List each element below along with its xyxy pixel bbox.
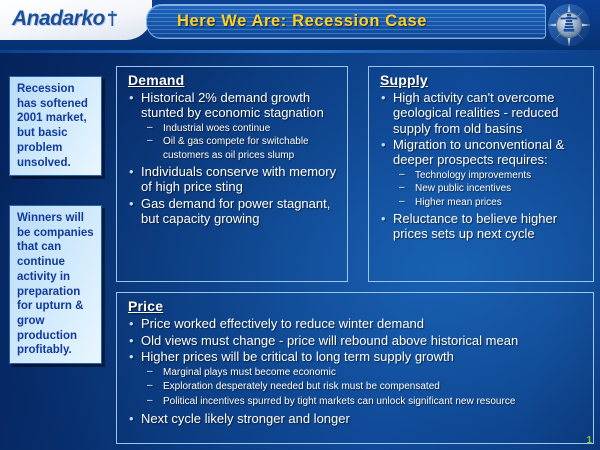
sub-bullet-glyph: – — [147, 134, 153, 148]
derrick-icon — [108, 11, 117, 26]
sub-bullet-text: Exploration desperately needed but risk … — [163, 381, 440, 392]
sub-bullet-glyph: – — [147, 379, 153, 394]
panel-demand-bullets: • Historical 2% demand growth stunted by… — [126, 90, 340, 226]
sub-bullet-item: – Technology improvements — [393, 169, 586, 183]
bullet-glyph: • — [129, 316, 134, 332]
sub-bullet-glyph: – — [399, 195, 405, 209]
bullet-glyph: • — [381, 137, 386, 152]
sub-bullet-text: Industrial woes continue — [163, 123, 270, 134]
panel-demand-title: Demand — [128, 72, 340, 88]
slide-canvas: Anadarko Here We Are: Recession Case — [0, 0, 600, 450]
bullet-text: Next cycle likely stronger and longer — [141, 411, 350, 426]
sub-bullet-text: New public incentives — [415, 183, 511, 194]
bullet-text: Reluctance to believe higher prices sets… — [393, 211, 557, 241]
header-divider — [0, 50, 600, 53]
sub-bullet-text: Oil & gas compete for switchable custome… — [163, 136, 309, 161]
bullet-text: Gas demand for power stagnant, but capac… — [141, 196, 330, 226]
sub-bullet-text: Marginal plays must become economic — [163, 367, 336, 378]
bullet-glyph: • — [129, 349, 134, 365]
sub-bullet-glyph: – — [147, 394, 153, 409]
panel-supply: Supply • High activity can't overcome ge… — [368, 66, 594, 282]
callout-winners: Winners will be companies that can conti… — [9, 205, 102, 364]
bullet-item: • High activity can't overcome geologica… — [378, 90, 586, 136]
panel-price: Price • Price worked effectively to redu… — [116, 292, 594, 444]
bullet-text: Migration to unconventional & deeper pro… — [393, 137, 564, 167]
bullet-item: • Historical 2% demand growth stunted by… — [126, 90, 340, 162]
panel-price-title: Price — [128, 298, 586, 314]
sub-bullet-item: – Higher mean prices — [393, 196, 586, 210]
bullet-item: • Price worked effectively to reduce win… — [126, 316, 586, 332]
bullet-text: Historical 2% demand growth stunted by e… — [141, 90, 324, 120]
slide-number: 1 — [586, 435, 592, 446]
bullet-glyph: • — [381, 211, 386, 226]
bullet-text: Higher prices will be critical to long t… — [141, 349, 454, 364]
bullet-glyph: • — [129, 90, 134, 105]
sub-bullet-item: – Oil & gas compete for switchable custo… — [141, 135, 340, 162]
panel-supply-title: Supply — [380, 72, 586, 88]
logo-wordmark: Anadarko — [12, 8, 105, 29]
bullet-item: • Migration to unconventional & deeper p… — [378, 137, 586, 209]
panel-price-bullets: • Price worked effectively to reduce win… — [126, 316, 586, 427]
bullet-text: Price worked effectively to reduce winte… — [141, 316, 424, 331]
panel-supply-bullets: • High activity can't overcome geologica… — [378, 90, 586, 242]
sub-bullet-glyph: – — [147, 365, 153, 380]
bullet-item: • Next cycle likely stronger and longer — [126, 411, 586, 427]
bullet-glyph: • — [129, 411, 134, 427]
bullet-item: • Gas demand for power stagnant, but cap… — [126, 196, 340, 227]
compass-rose-emblem — [546, 2, 592, 48]
sub-bullets: – Marginal plays must become economic – … — [141, 366, 586, 410]
sub-bullet-glyph: – — [147, 121, 153, 135]
sub-bullet-item: – Political incentives spurred by tight … — [141, 395, 586, 410]
page-title: Here We Are: Recession Case — [177, 12, 427, 31]
bullet-glyph: • — [129, 164, 134, 179]
bullet-glyph: • — [129, 333, 134, 349]
bullet-text: Old views must change - price will rebou… — [141, 333, 518, 348]
sub-bullet-glyph: – — [399, 168, 405, 182]
bullet-glyph: • — [129, 196, 134, 211]
sub-bullet-glyph: – — [399, 181, 405, 195]
bullet-text: Individuals conserve with memory of high… — [141, 164, 336, 194]
sub-bullets: – Technology improvements – New public i… — [393, 169, 586, 210]
sub-bullet-item: – Marginal plays must become economic — [141, 366, 586, 381]
anadarko-logo: Anadarko — [12, 8, 117, 29]
bullet-item: • Reluctance to believe higher prices se… — [378, 211, 586, 242]
sub-bullet-text: Technology improvements — [415, 170, 531, 181]
slide-header: Anadarko Here We Are: Recession Case — [0, 0, 600, 52]
bullet-item: • Old views must change - price will reb… — [126, 333, 586, 349]
sub-bullet-item: – Industrial woes continue — [141, 122, 340, 136]
bullet-item: • Individuals conserve with memory of hi… — [126, 164, 340, 195]
title-band: Here We Are: Recession Case — [146, 4, 546, 39]
bullet-item: • Higher prices will be critical to long… — [126, 349, 586, 409]
callout-recession: Recession has softened 2001 market, but … — [9, 76, 102, 176]
panel-demand: Demand • Historical 2% demand growth stu… — [116, 66, 348, 282]
sub-bullet-text: Higher mean prices — [415, 197, 502, 208]
sub-bullet-text: Political incentives spurred by tight ma… — [163, 396, 515, 407]
bullet-text: High activity can't overcome geological … — [393, 90, 558, 136]
sub-bullet-item: – New public incentives — [393, 182, 586, 196]
sub-bullet-item: – Exploration desperately needed but ris… — [141, 380, 586, 395]
bullet-glyph: • — [381, 90, 386, 105]
sub-bullets: – Industrial woes continue – Oil & gas c… — [141, 122, 340, 163]
